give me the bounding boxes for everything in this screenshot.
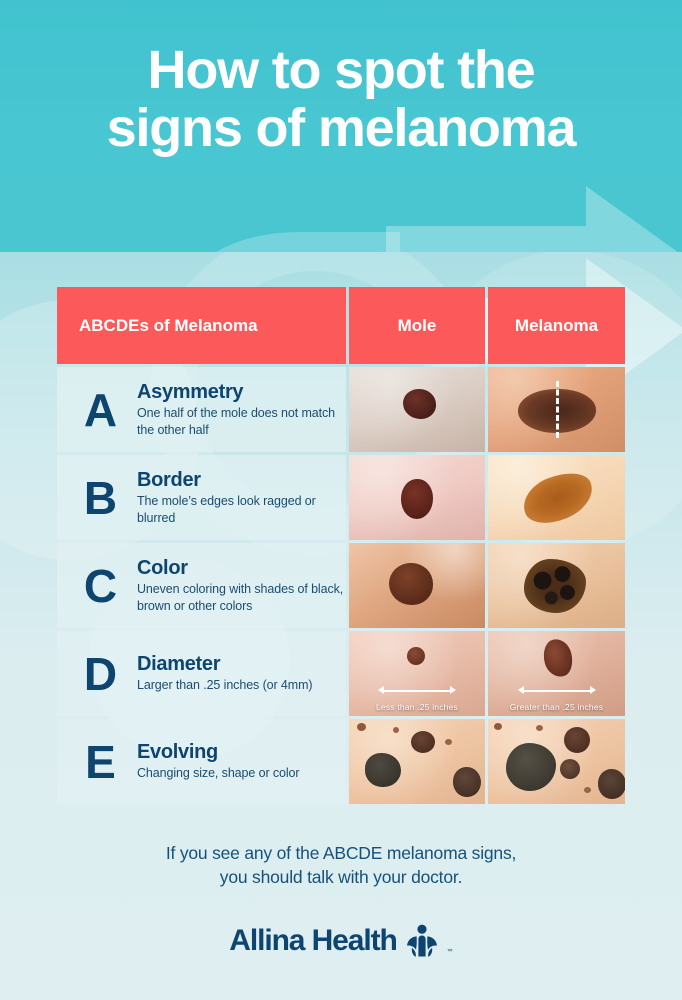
footer-line1: If you see any of the ABCDE melanoma sig… xyxy=(0,842,682,866)
letter-d: D xyxy=(71,651,129,697)
swoosh-decoration xyxy=(170,214,400,252)
criteria-cell-b: B Border The mole’s edges look ragged or… xyxy=(57,455,346,540)
melanoma-image-d: Greater than .25 inches xyxy=(488,631,625,716)
criteria-cell-c: C Color Uneven coloring with shades of b… xyxy=(57,543,346,628)
criteria-body-a: One half of the mole does not match the … xyxy=(137,405,346,438)
criteria-cell-a: A Asymmetry One half of the mole does no… xyxy=(57,367,346,452)
melanoma-image-c xyxy=(488,543,625,628)
double-arrow-icon-melanoma-d xyxy=(518,686,596,695)
page-title: How to spot the signs of melanoma xyxy=(0,42,682,158)
mole-image-a xyxy=(349,367,485,452)
column-header-melanoma: Melanoma xyxy=(488,287,625,364)
table-row: E Evolving Changing size, shape or color xyxy=(57,719,625,804)
table-header-row: ABCDEs of Melanoma Mole Melanoma xyxy=(57,287,625,364)
page-title-line2: signs of melanoma xyxy=(0,100,682,158)
criteria-cell-e: E Evolving Changing size, shape or color xyxy=(57,719,346,804)
mole-image-e xyxy=(349,719,485,804)
table-row: C Color Uneven coloring with shades of b… xyxy=(57,543,625,628)
logo-trademark: ™ xyxy=(447,949,453,955)
table-body: A Asymmetry One half of the mole does no… xyxy=(57,367,625,804)
criteria-body-d: Larger than .25 inches (or 4mm) xyxy=(137,677,312,694)
table-row: A Asymmetry One half of the mole does no… xyxy=(57,367,625,452)
infographic-page: How to spot the signs of melanoma ABCDEs… xyxy=(0,0,682,1000)
mole-caption-d: Less than .25 inches xyxy=(349,702,485,712)
criteria-body-b: The mole’s edges look ragged or blurred xyxy=(137,493,346,526)
letter-b: B xyxy=(71,475,129,521)
criteria-title-d: Diameter xyxy=(137,653,312,675)
criteria-title-a: Asymmetry xyxy=(137,381,346,403)
letter-c: C xyxy=(71,563,129,609)
melanoma-image-e xyxy=(488,719,625,804)
abcde-table: ABCDEs of Melanoma Mole Melanoma A Asymm… xyxy=(57,287,625,804)
asymmetry-dashed-line xyxy=(556,381,559,439)
page-title-line1: How to spot the xyxy=(148,40,535,100)
logo-wordmark: Allina Health xyxy=(229,924,396,958)
criteria-cell-d: D Diameter Larger than .25 inches (or 4m… xyxy=(57,631,346,716)
footer-message: If you see any of the ABCDE melanoma sig… xyxy=(0,842,682,889)
letter-a: A xyxy=(71,387,129,433)
mole-image-d: Less than .25 inches xyxy=(349,631,485,716)
criteria-body-e: Changing size, shape or color xyxy=(137,765,299,782)
mole-image-c xyxy=(349,543,485,628)
arrow-right-icon-upper xyxy=(386,186,682,252)
footer-line2: you should talk with your doctor. xyxy=(0,866,682,890)
melanoma-image-a xyxy=(488,367,625,452)
table-row: B Border The mole’s edges look ragged or… xyxy=(57,455,625,540)
melanoma-caption-d: Greater than .25 inches xyxy=(488,702,625,712)
double-arrow-icon-mole-d xyxy=(378,686,456,695)
criteria-title-b: Border xyxy=(137,469,346,491)
letter-e: E xyxy=(71,739,129,785)
table-row: D Diameter Larger than .25 inches (or 4m… xyxy=(57,631,625,716)
criteria-body-c: Uneven coloring with shades of black, br… xyxy=(137,581,346,614)
column-header-mole: Mole xyxy=(349,287,485,364)
criteria-title-e: Evolving xyxy=(137,741,299,763)
column-header-criteria: ABCDEs of Melanoma xyxy=(57,287,346,364)
allina-figure-icon xyxy=(403,924,441,958)
allina-health-logo[interactable]: Allina Health ™ xyxy=(0,924,682,958)
criteria-title-c: Color xyxy=(137,557,346,579)
melanoma-image-b xyxy=(488,455,625,540)
mole-image-b xyxy=(349,455,485,540)
